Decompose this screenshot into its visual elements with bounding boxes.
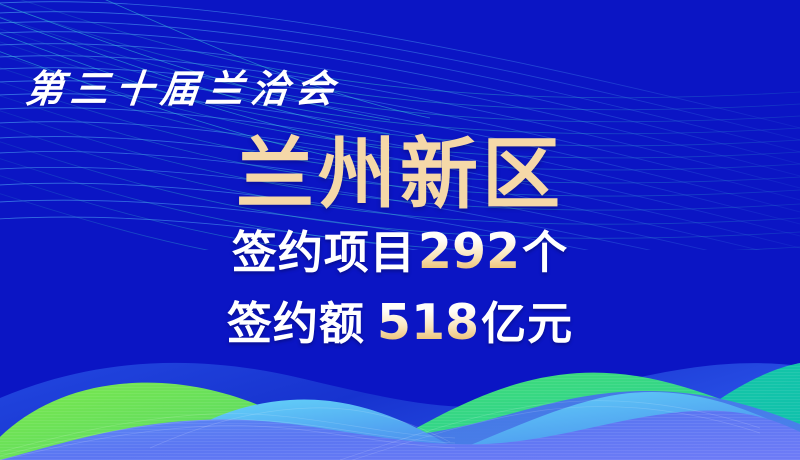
page-title: 兰州新区 [0, 131, 800, 217]
headline-stack: 兰州新区 签约项目292个 签约额518亿元 [0, 131, 800, 359]
stat-line-projects: 签约项目292个 [0, 217, 800, 288]
stat-amount-prefix: 签约额 [227, 298, 365, 349]
stat-amount-suffix: 亿元 [481, 298, 573, 349]
promo-poster: 第三十届兰洽会 兰州新区 签约项目292个 签约额518亿元 [0, 0, 800, 460]
event-brush-title: 第三十届兰洽会 [23, 58, 344, 113]
stat-projects-prefix: 签约项目 [232, 227, 416, 278]
stat-projects-number: 292 [416, 223, 522, 280]
stat-amount-number: 518 [375, 294, 481, 351]
stat-projects-suffix: 个 [522, 227, 568, 278]
stat-line-amount: 签约额518亿元 [0, 288, 800, 359]
